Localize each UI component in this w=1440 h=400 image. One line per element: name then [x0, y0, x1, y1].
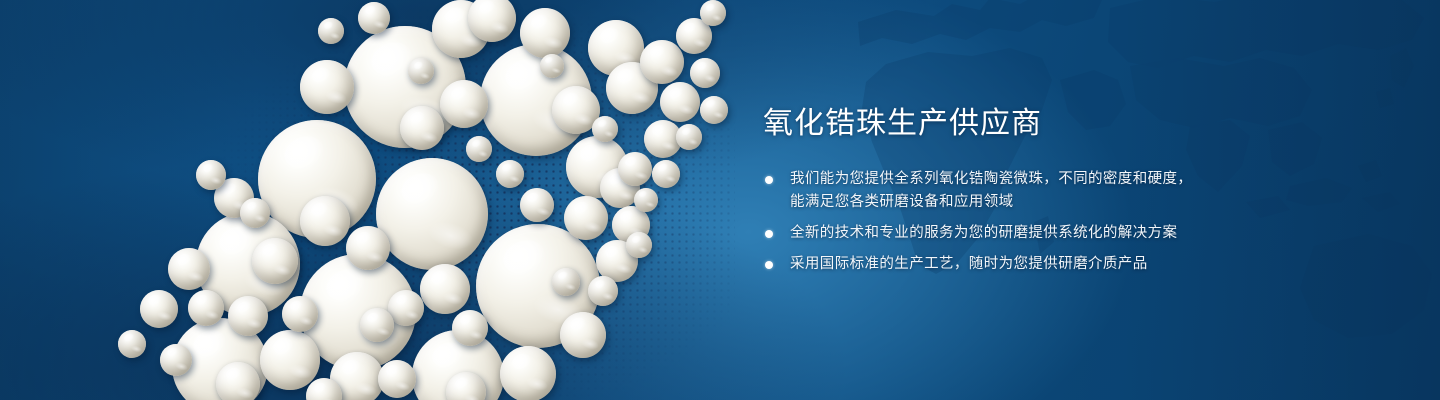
bullet-text-line1: 采用国际标准的生产工艺，随时为您提供研磨介质产品	[790, 256, 1148, 272]
banner-copy-block: 氧化锆珠生产供应商 我们能为您提供全系列氧化锆陶瓷微珠，不同的密度和硬度， 能满…	[763, 104, 1233, 276]
bullet-dot-icon	[765, 261, 773, 269]
feature-bullet-list: 我们能为您提供全系列氧化锆陶瓷微珠，不同的密度和硬度， 能满足您各类研磨设备和应…	[763, 168, 1233, 276]
list-item: 全新的技术和专业的服务为您的研磨提供系统化的解决方案	[763, 222, 1233, 245]
hero-banner: 氧化锆珠生产供应商 我们能为您提供全系列氧化锆陶瓷微珠，不同的密度和硬度， 能满…	[0, 0, 1440, 400]
bullet-text-line2: 能满足您各类研磨设备和应用领域	[790, 191, 1233, 214]
list-item: 采用国际标准的生产工艺，随时为您提供研磨介质产品	[763, 253, 1233, 276]
bullet-dot-icon	[765, 176, 773, 184]
list-item: 我们能为您提供全系列氧化锆陶瓷微珠，不同的密度和硬度， 能满足您各类研磨设备和应…	[763, 168, 1233, 214]
page-title: 氧化锆珠生产供应商	[763, 104, 1233, 144]
bullet-text-line1: 全新的技术和专业的服务为您的研磨提供系统化的解决方案	[790, 225, 1177, 241]
bullet-dot-icon	[765, 230, 773, 238]
bullet-text-line1: 我们能为您提供全系列氧化锆陶瓷微珠，不同的密度和硬度，	[790, 171, 1192, 187]
